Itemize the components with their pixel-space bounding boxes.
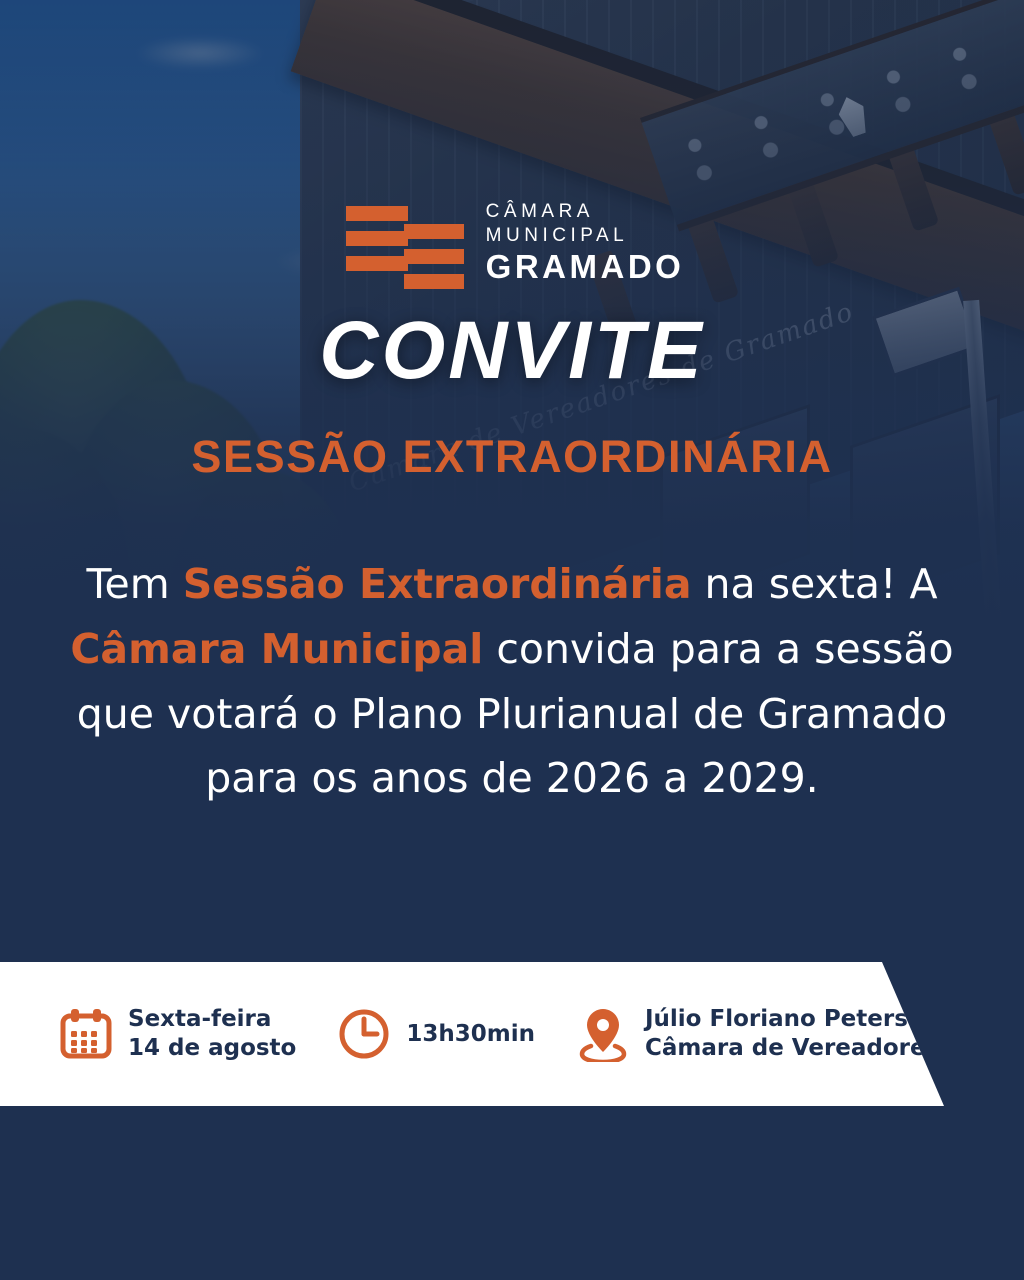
info-item-date: Sexta-feira 14 de agosto	[58, 1005, 296, 1063]
info-time-text: 13h30min	[406, 1020, 535, 1049]
info-date-line2: 14 de agosto	[128, 1035, 296, 1061]
logo-line-gramado: GRAMADO	[486, 250, 685, 283]
info-date-text: Sexta-feira 14 de agosto	[128, 1005, 296, 1063]
body-highlight-camara: Câmara Municipal	[70, 625, 483, 673]
logo-lockup: CÂMARA MUNICIPAL GRAMADO	[0, 196, 1024, 288]
logo-wordmark: CÂMARA MUNICIPAL GRAMADO	[486, 202, 685, 283]
event-info-banner: Sexta-feira 14 de agosto 13h30min	[0, 962, 945, 1106]
map-pin-icon	[575, 1006, 631, 1062]
page-subtitle: SESSÃO EXTRAORDINÁRIA	[0, 434, 1024, 479]
clock-icon	[336, 1006, 392, 1062]
info-location-text: Júlio Floriano Petersen Câmara de Veread…	[645, 1005, 940, 1063]
info-item-time: 13h30min	[336, 1006, 535, 1062]
info-date-line1: Sexta-feira	[128, 1006, 271, 1032]
logo-line-camara: CÂMARA	[486, 202, 685, 221]
info-item-location: Júlio Floriano Petersen Câmara de Veread…	[575, 1005, 940, 1063]
info-location-line1: Júlio Floriano Petersen	[645, 1006, 940, 1032]
poster-canvas: Câmara de Vereadores de Gramado CÂMARA M…	[0, 0, 1024, 1280]
body-highlight-sessao: Sessão Extraordinária	[183, 560, 692, 608]
body-segment-1: Tem	[86, 560, 182, 608]
info-location-line2: Câmara de Vereadores	[645, 1035, 939, 1061]
logo-line-municipal: MUNICIPAL	[486, 226, 685, 245]
calendar-icon	[58, 1006, 114, 1062]
page-title: CONVITE	[0, 310, 1024, 392]
chevron-bars-icon	[340, 196, 464, 288]
body-segment-2: na sexta! A	[692, 560, 938, 608]
invitation-body-text: Tem Sessão Extraordinária na sexta! A Câ…	[62, 552, 962, 811]
